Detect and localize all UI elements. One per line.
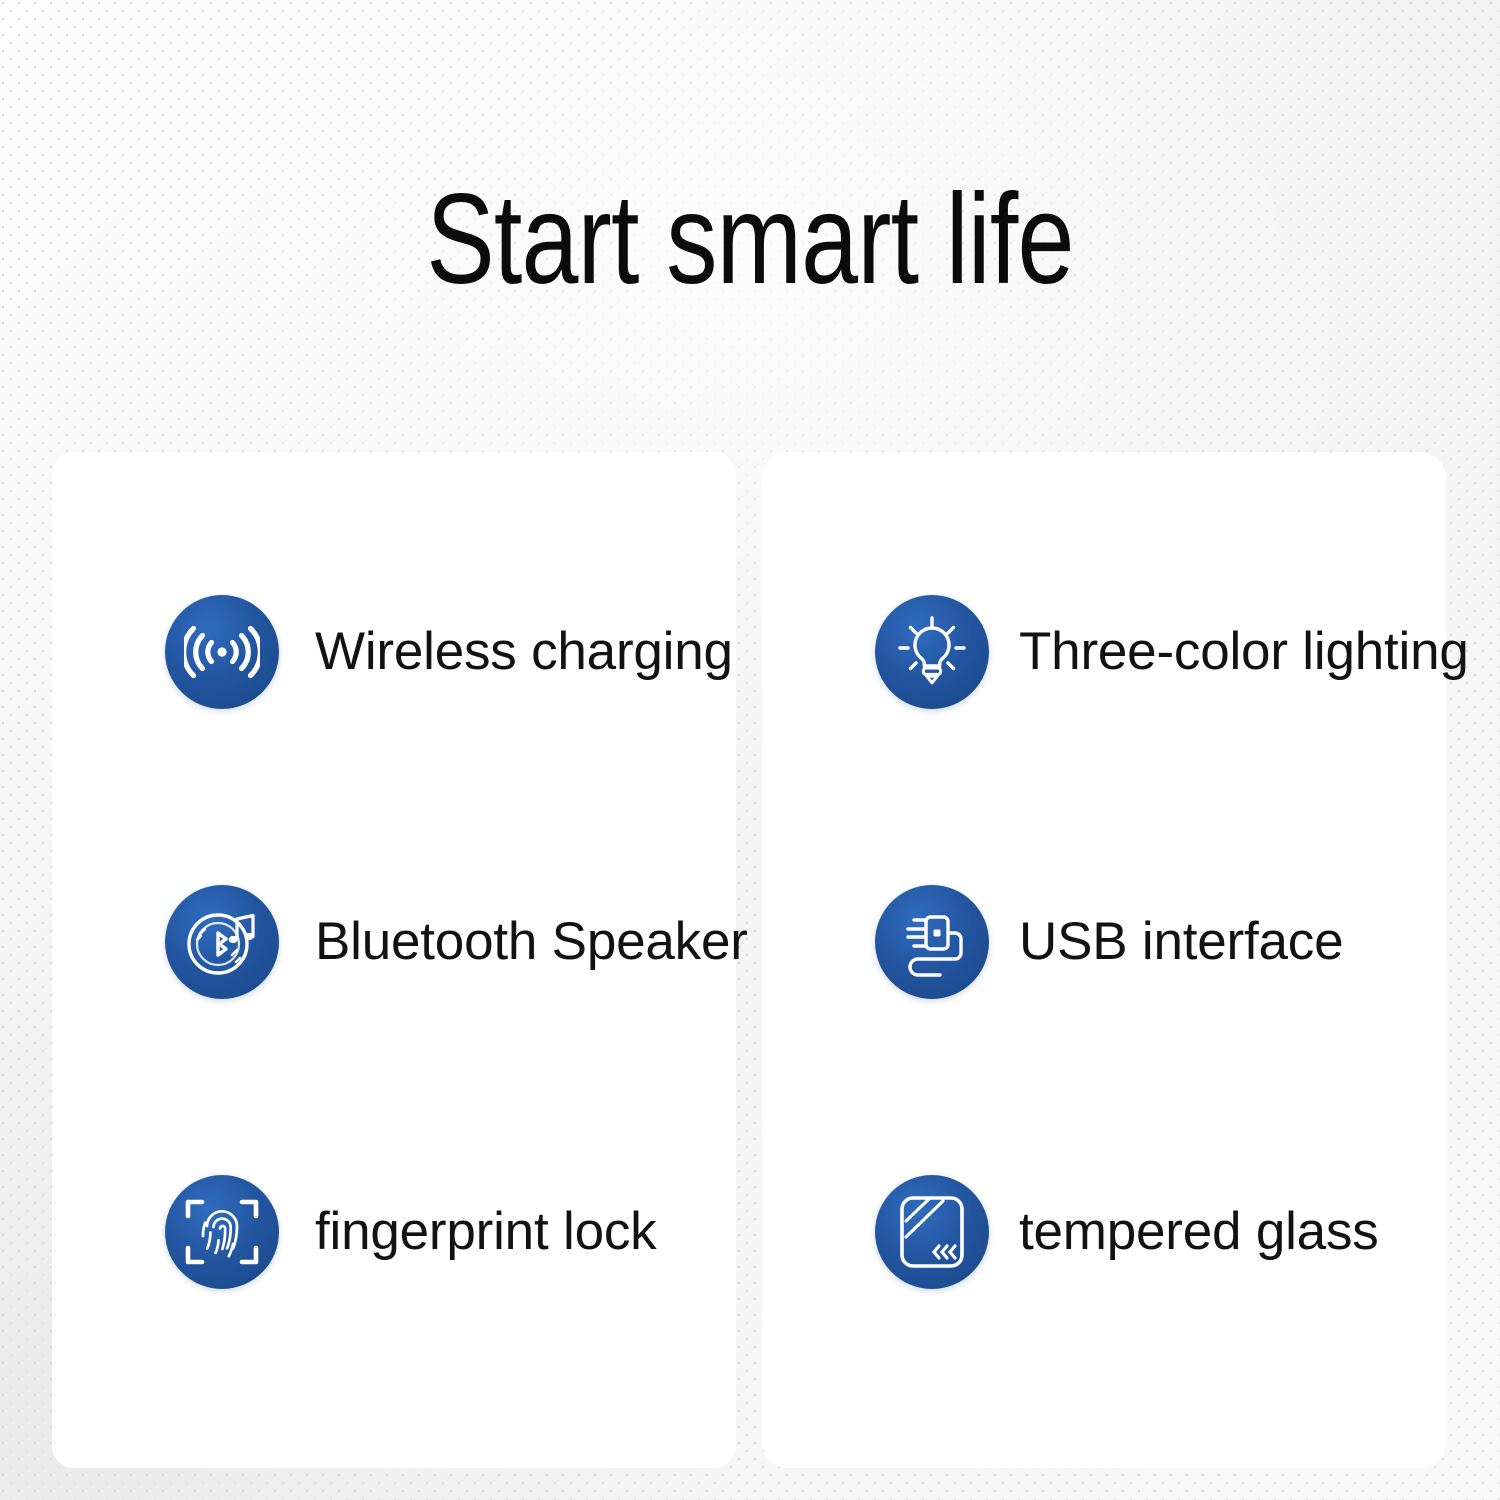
feature-label: Bluetooth Speaker xyxy=(315,914,748,970)
feature-item-wireless-charging[interactable]: Wireless charging xyxy=(165,595,733,709)
feature-item-three-color-lighting[interactable]: Three-color lighting xyxy=(875,595,1469,709)
fingerprint-lock-icon xyxy=(165,1175,279,1289)
bluetooth-speaker-icon xyxy=(165,885,279,999)
feature-label: Wireless charging xyxy=(315,624,733,680)
feature-label: Three-color lighting xyxy=(1019,624,1469,680)
usb-plug-icon xyxy=(875,885,989,999)
feature-label: fingerprint lock xyxy=(315,1204,656,1260)
feature-item-tempered-glass[interactable]: tempered glass xyxy=(875,1175,1379,1289)
feature-item-bluetooth-speaker[interactable]: Bluetooth Speaker xyxy=(165,885,748,999)
wireless-charging-icon xyxy=(165,595,279,709)
feature-label: tempered glass xyxy=(1019,1204,1379,1260)
feature-label: USB interface xyxy=(1019,914,1343,970)
feature-item-usb-interface[interactable]: USB interface xyxy=(875,885,1343,999)
feature-item-fingerprint-lock[interactable]: fingerprint lock xyxy=(165,1175,656,1289)
tempered-glass-icon xyxy=(875,1175,989,1289)
light-bulb-icon xyxy=(875,595,989,709)
page-title: Start smart life xyxy=(150,176,1350,304)
